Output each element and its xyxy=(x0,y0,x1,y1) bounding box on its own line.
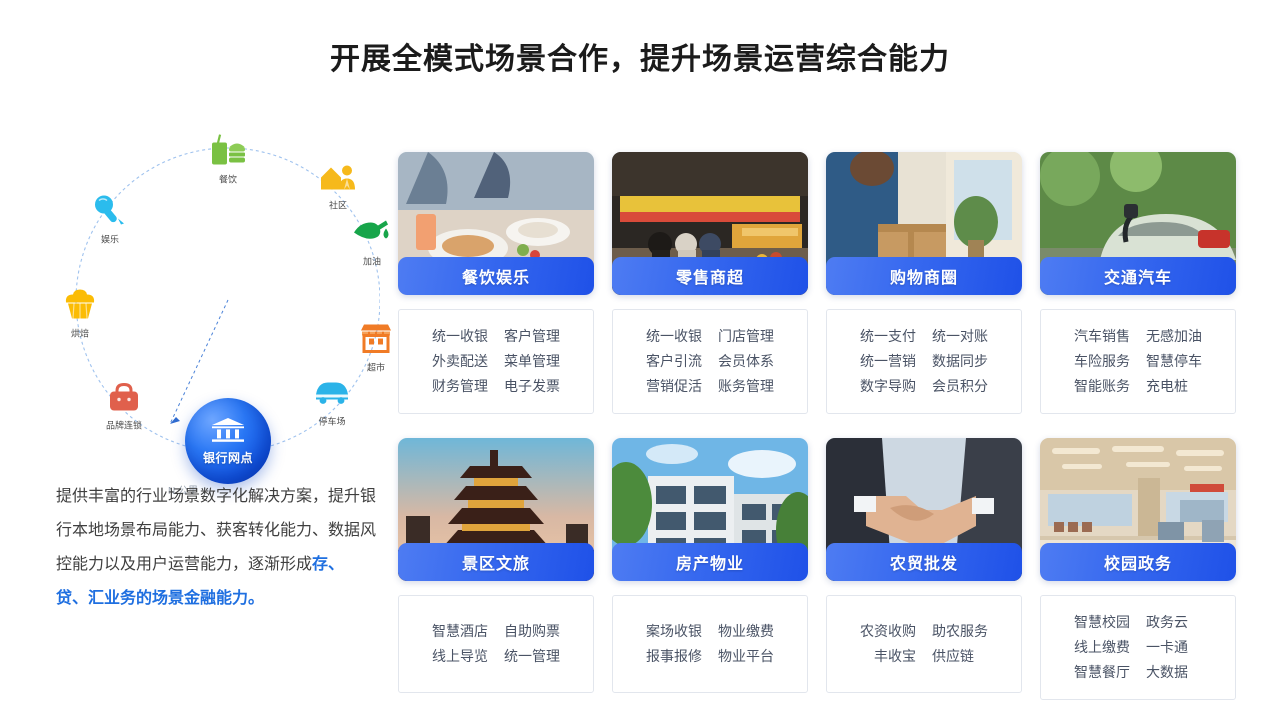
card-tag[interactable]: 政务云 xyxy=(1138,610,1227,635)
card-tag[interactable]: 物业平台 xyxy=(710,644,799,669)
card-visual[interactable]: 零售商超 xyxy=(612,152,808,295)
tag-row: 农资收购助农服务 xyxy=(835,619,1013,644)
tag-row: 智慧餐厅大数据 xyxy=(1049,660,1227,685)
card-tag[interactable]: 门店管理 xyxy=(710,324,799,349)
diagram-node-label: 烘焙 xyxy=(41,327,119,340)
card-visual[interactable]: 购物商圈 xyxy=(826,152,1022,295)
tag-row: 财务管理电子发票 xyxy=(407,374,585,399)
bank-icon xyxy=(210,417,246,448)
card-tag-box: 汽车销售无感加油车险服务智慧停车智能账务充电桩 xyxy=(1040,309,1236,414)
card-title-banner[interactable]: 零售商超 xyxy=(612,257,808,295)
tag-row: 智慧酒店自助购票 xyxy=(407,619,585,644)
scenario-card[interactable]: 房产物业案场收银物业缴费报事报修物业平台 xyxy=(612,438,808,700)
card-tag-box: 统一支付统一对账统一营销数据同步数字导购会员积分 xyxy=(826,309,1022,414)
card-tag[interactable]: 账务管理 xyxy=(710,374,799,399)
diagram-node-label: 餐饮 xyxy=(189,173,267,186)
card-title-banner[interactable]: 购物商圈 xyxy=(826,257,1022,295)
card-visual[interactable]: 交通汽车 xyxy=(1040,152,1236,295)
tag-row: 车险服务智慧停车 xyxy=(1049,349,1227,374)
card-visual[interactable]: 餐饮娱乐 xyxy=(398,152,594,295)
card-tag[interactable]: 物业缴费 xyxy=(710,619,799,644)
card-visual[interactable]: 农贸批发 xyxy=(826,438,1022,581)
tag-row: 线上缴费一卡通 xyxy=(1049,635,1227,660)
card-tag[interactable]: 无感加油 xyxy=(1138,324,1227,349)
card-tag[interactable]: 外卖配送 xyxy=(407,349,496,374)
card-tag[interactable]: 统一营销 xyxy=(835,349,924,374)
card-tag[interactable]: 数据同步 xyxy=(924,349,1013,374)
tag-row: 数字导购会员积分 xyxy=(835,374,1013,399)
page-title: 开展全模式场景合作，提升场景运营综合能力 xyxy=(0,34,1280,78)
scenario-card[interactable]: 购物商圈统一支付统一对账统一营销数据同步数字导购会员积分 xyxy=(826,152,1022,414)
scenario-card[interactable]: 零售商超统一收银门店管理客户引流会员体系营销促活账务管理 xyxy=(612,152,808,414)
diagram-node-label: 社区 xyxy=(299,199,377,212)
card-tag[interactable]: 客户引流 xyxy=(621,349,710,374)
diagram-center-bank-branch[interactable]: 银行网点 xyxy=(185,398,271,484)
bank-ecosystem-diagram: 餐饮 社区 xyxy=(20,132,380,472)
tag-row: 统一收银客户管理 xyxy=(407,324,585,349)
scenario-card[interactable]: 农贸批发农资收购助农服务丰收宝供应链 xyxy=(826,438,1022,700)
tag-row: 统一营销数据同步 xyxy=(835,349,1013,374)
card-tag[interactable]: 充电桩 xyxy=(1138,374,1227,399)
car-icon xyxy=(293,373,371,413)
card-tag[interactable]: 统一对账 xyxy=(924,324,1013,349)
card-tag[interactable]: 丰收宝 xyxy=(835,644,924,669)
card-tag[interactable]: 智慧校园 xyxy=(1049,610,1138,635)
card-tag[interactable]: 智慧餐厅 xyxy=(1049,660,1138,685)
description-paragraph: 提供丰富的行业场景数字化解决方案，提升银行本地场景布局能力、获客转化能力、数据风… xyxy=(56,480,376,616)
scenario-card[interactable]: 景区文旅智慧酒店自助购票线上导览统一管理 xyxy=(398,438,594,700)
tag-row: 线上导览统一管理 xyxy=(407,644,585,669)
card-visual[interactable]: 房产物业 xyxy=(612,438,808,581)
diagram-node-label: 娱乐 xyxy=(71,233,149,246)
card-tag[interactable]: 财务管理 xyxy=(407,374,496,399)
card-visual[interactable]: 景区文旅 xyxy=(398,438,594,581)
card-tag[interactable]: 统一收银 xyxy=(407,324,496,349)
card-tag[interactable]: 大数据 xyxy=(1138,660,1227,685)
left-panel: 餐饮 社区 xyxy=(20,132,388,692)
card-title-banner[interactable]: 景区文旅 xyxy=(398,543,594,581)
tag-row: 营销促活账务管理 xyxy=(621,374,799,399)
card-title-banner[interactable]: 餐饮娱乐 xyxy=(398,257,594,295)
card-tag[interactable]: 数字导购 xyxy=(835,374,924,399)
card-visual[interactable]: 校园政务 xyxy=(1040,438,1236,581)
card-tag[interactable]: 会员积分 xyxy=(924,374,1013,399)
card-tag[interactable]: 智能账务 xyxy=(1049,374,1138,399)
slide-root: 开展全模式场景合作，提升场景运营综合能力 xyxy=(0,0,1280,720)
card-tag[interactable]: 电子发票 xyxy=(496,374,585,399)
card-tag[interactable]: 案场收银 xyxy=(621,619,710,644)
card-tag[interactable]: 智慧酒店 xyxy=(407,619,496,644)
diagram-node-entertainment[interactable]: 娱乐 xyxy=(71,191,149,246)
card-tag[interactable]: 统一支付 xyxy=(835,324,924,349)
card-tag-box: 智慧校园政务云线上缴费一卡通智慧餐厅大数据 xyxy=(1040,595,1236,700)
tag-row: 统一收银门店管理 xyxy=(621,324,799,349)
tag-row: 报事报修物业平台 xyxy=(621,644,799,669)
card-tag[interactable]: 客户管理 xyxy=(496,324,585,349)
card-tag[interactable]: 车险服务 xyxy=(1049,349,1138,374)
card-tag-box: 案场收银物业缴费报事报修物业平台 xyxy=(612,595,808,693)
card-tag[interactable]: 农资收购 xyxy=(835,619,924,644)
card-tag[interactable]: 汽车销售 xyxy=(1049,324,1138,349)
tag-row: 汽车销售无感加油 xyxy=(1049,324,1227,349)
card-tag[interactable]: 一卡通 xyxy=(1138,635,1227,660)
microphone-icon xyxy=(71,191,149,231)
card-title-banner[interactable]: 交通汽车 xyxy=(1040,257,1236,295)
card-title-banner[interactable]: 校园政务 xyxy=(1040,543,1236,581)
diagram-node-catering[interactable]: 餐饮 xyxy=(189,131,267,186)
diagram-node-label: 停车场 xyxy=(293,415,371,428)
card-title-banner[interactable]: 农贸批发 xyxy=(826,543,1022,581)
card-tag[interactable]: 报事报修 xyxy=(621,644,710,669)
card-tag-box: 智慧酒店自助购票线上导览统一管理 xyxy=(398,595,594,693)
scenario-card[interactable]: 餐饮娱乐统一收银客户管理外卖配送菜单管理财务管理电子发票 xyxy=(398,152,594,414)
tag-row: 统一支付统一对账 xyxy=(835,324,1013,349)
card-tag[interactable]: 智慧停车 xyxy=(1138,349,1227,374)
diagram-node-bakery[interactable]: 烘焙 xyxy=(41,285,119,340)
card-tag[interactable]: 自助购票 xyxy=(496,619,585,644)
tag-row: 外卖配送菜单管理 xyxy=(407,349,585,374)
card-tag[interactable]: 线上缴费 xyxy=(1049,635,1138,660)
diagram-node-community[interactable]: 社区 xyxy=(299,157,377,212)
card-tag[interactable]: 助农服务 xyxy=(924,619,1013,644)
house-person-icon xyxy=(299,157,377,197)
card-tag-box: 农资收购助农服务丰收宝供应链 xyxy=(826,595,1022,693)
card-tag[interactable]: 统一收银 xyxy=(621,324,710,349)
card-tag[interactable]: 统一管理 xyxy=(496,644,585,669)
center-label: 银行网点 xyxy=(203,449,253,466)
handbag-icon xyxy=(85,377,163,417)
tag-row: 丰收宝供应链 xyxy=(835,644,1013,669)
drink-burger-icon xyxy=(189,131,267,171)
card-title-banner[interactable]: 房产物业 xyxy=(612,543,808,581)
diagram-node-label: 品牌连锁 xyxy=(85,419,163,432)
diagram-node-brand-chain[interactable]: 品牌连锁 xyxy=(85,377,163,432)
tag-row: 智能账务充电桩 xyxy=(1049,374,1227,399)
scenario-card-grid: 餐饮娱乐统一收银客户管理外卖配送菜单管理财务管理电子发票 零售商超统一收银门店管… xyxy=(398,152,1236,700)
card-tag[interactable]: 菜单管理 xyxy=(496,349,585,374)
card-tag[interactable]: 线上导览 xyxy=(407,644,496,669)
card-tag-box: 统一收银客户管理外卖配送菜单管理财务管理电子发票 xyxy=(398,309,594,414)
tag-row: 客户引流会员体系 xyxy=(621,349,799,374)
tag-row: 案场收银物业缴费 xyxy=(621,619,799,644)
cupcake-icon xyxy=(41,285,119,325)
diagram-node-parking[interactable]: 停车场 xyxy=(293,373,371,428)
scenario-card[interactable]: 交通汽车汽车销售无感加油车险服务智慧停车智能账务充电桩 xyxy=(1040,152,1236,414)
scenario-card[interactable]: 校园政务智慧校园政务云线上缴费一卡通智慧餐厅大数据 xyxy=(1040,438,1236,700)
card-tag[interactable]: 会员体系 xyxy=(710,349,799,374)
card-tag[interactable]: 营销促活 xyxy=(621,374,710,399)
tag-row: 智慧校园政务云 xyxy=(1049,610,1227,635)
card-tag-box: 统一收银门店管理客户引流会员体系营销促活账务管理 xyxy=(612,309,808,414)
card-tag[interactable]: 供应链 xyxy=(924,644,1013,669)
